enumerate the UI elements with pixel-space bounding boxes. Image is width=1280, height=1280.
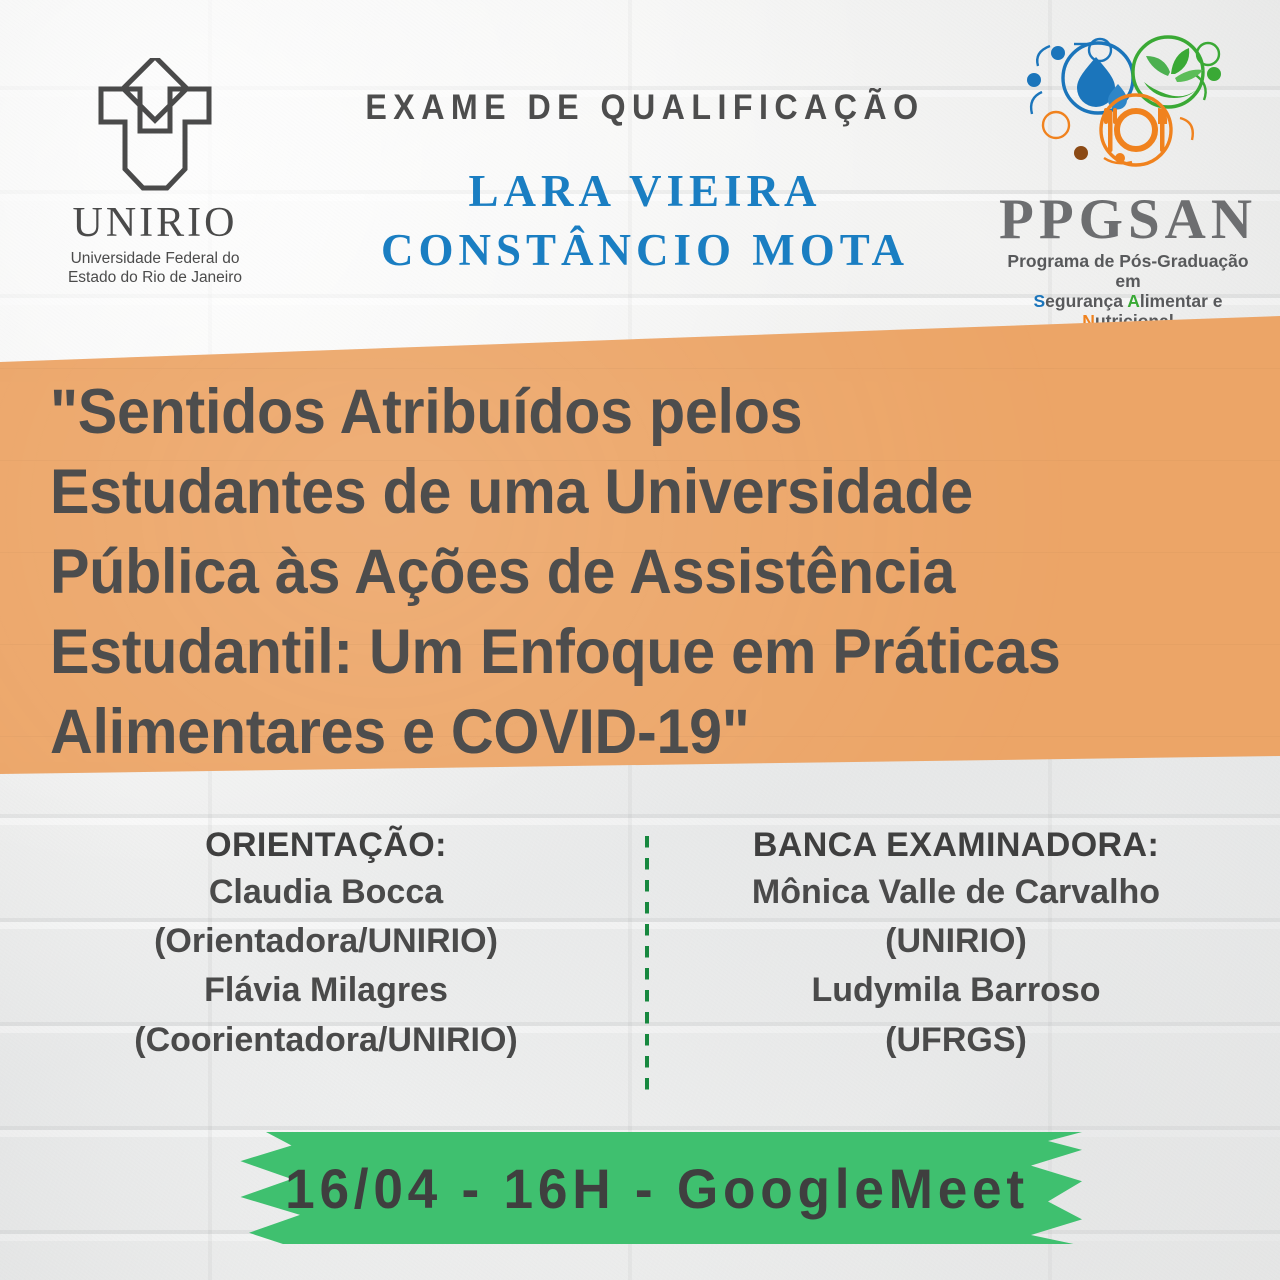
- unirio-logo: UNIRIO Universidade Federal do Estado do…: [40, 58, 270, 288]
- ppgsan-logo: PPGSAN Programa de Pós-Graduação em Segu…: [994, 30, 1262, 366]
- hand-icon: [1144, 82, 1196, 98]
- header-center: EXAME DE QUALIFICAÇÃO LARA VIEIRA CONSTÂ…: [280, 88, 1010, 279]
- thesis-title: "Sentidos Atribuídos pelos Estudantes de…: [50, 372, 1174, 772]
- committee-2-affiliation: (UFRGS): [652, 1018, 1260, 1062]
- unirio-wordmark: UNIRIO: [40, 202, 270, 244]
- bubble-dot-icon: [1074, 146, 1088, 160]
- ppgsan-seguranca: egurança: [1045, 291, 1127, 311]
- committee-1-affiliation: (UNIRIO): [652, 919, 1260, 963]
- student-name-line1: LARA VIEIRA: [280, 162, 1010, 221]
- advisor-2-name: Flávia Milagres: [22, 968, 630, 1012]
- ppgsan-s: S: [1033, 291, 1045, 311]
- ppgsan-tagline-line1: Programa de Pós-Graduação em: [994, 251, 1262, 291]
- committee-2-name: Ludymila Barroso: [652, 968, 1260, 1012]
- advisors-heading: ORIENTAÇÃO:: [22, 826, 630, 865]
- leaf-icon: [1175, 70, 1203, 82]
- student-name-line2: CONSTÂNCIO MOTA: [280, 221, 1010, 280]
- committee-heading: BANCA EXAMINADORA:: [652, 826, 1260, 865]
- bubble-dot-icon: [1051, 46, 1065, 60]
- advisor-2-affiliation: (Coorientadora/UNIRIO): [22, 1018, 630, 1062]
- unirio-subtitle-line2: Estado do Rio de Janeiro: [40, 268, 270, 287]
- leaf-icon: [1171, 48, 1189, 74]
- thesis-title-line-5: Alimentares e COVID-19": [50, 692, 1174, 772]
- ppgsan-alimentar: limentar e: [1140, 291, 1223, 311]
- advisor-1-name: Claudia Bocca: [22, 870, 630, 914]
- plate-icon: [1117, 111, 1155, 149]
- thesis-title-line-3: Pública às Ações de Assistência: [50, 532, 1174, 612]
- thesis-title-line-1: "Sentidos Atribuídos pelos: [50, 372, 1174, 452]
- bubble-dot-icon: [1207, 67, 1221, 81]
- committee-column: BANCA EXAMINADORA: Mônica Valle de Carva…: [652, 826, 1260, 1062]
- ppgsan-emblem-icon: [1008, 30, 1248, 190]
- thesis-title-line-4: Estudantil: Um Enfoque em Práticas: [50, 612, 1174, 692]
- ppgsan-a: A: [1127, 291, 1140, 311]
- poster-canvas: UNIRIO Universidade Federal do Estado do…: [0, 0, 1280, 1280]
- event-datetime-platform: 16/04 - 16H - GoogleMeet: [253, 1132, 1061, 1244]
- header: UNIRIO Universidade Federal do Estado do…: [0, 0, 1280, 320]
- thesis-title-line-2: Estudantes de uma Universidade: [50, 452, 1174, 532]
- column-divider: [645, 836, 649, 1090]
- event-kicker: EXAME DE QUALIFICAÇÃO: [309, 88, 981, 128]
- people-section: ORIENTAÇÃO: Claudia Bocca (Orientadora/U…: [0, 826, 1280, 1116]
- advisors-column: ORIENTAÇÃO: Claudia Bocca (Orientadora/U…: [22, 826, 630, 1062]
- committee-1-name: Mônica Valle de Carvalho: [652, 870, 1260, 914]
- unirio-subtitle-line1: Universidade Federal do: [40, 249, 270, 268]
- ppgsan-wordmark: PPGSAN: [994, 191, 1262, 248]
- unirio-emblem-icon: [80, 58, 230, 198]
- bubble-dot-icon: [1027, 73, 1041, 87]
- advisor-1-affiliation: (Orientadora/UNIRIO): [22, 919, 630, 963]
- student-name: LARA VIEIRA CONSTÂNCIO MOTA: [280, 162, 1010, 279]
- leaf-icon: [1146, 56, 1170, 76]
